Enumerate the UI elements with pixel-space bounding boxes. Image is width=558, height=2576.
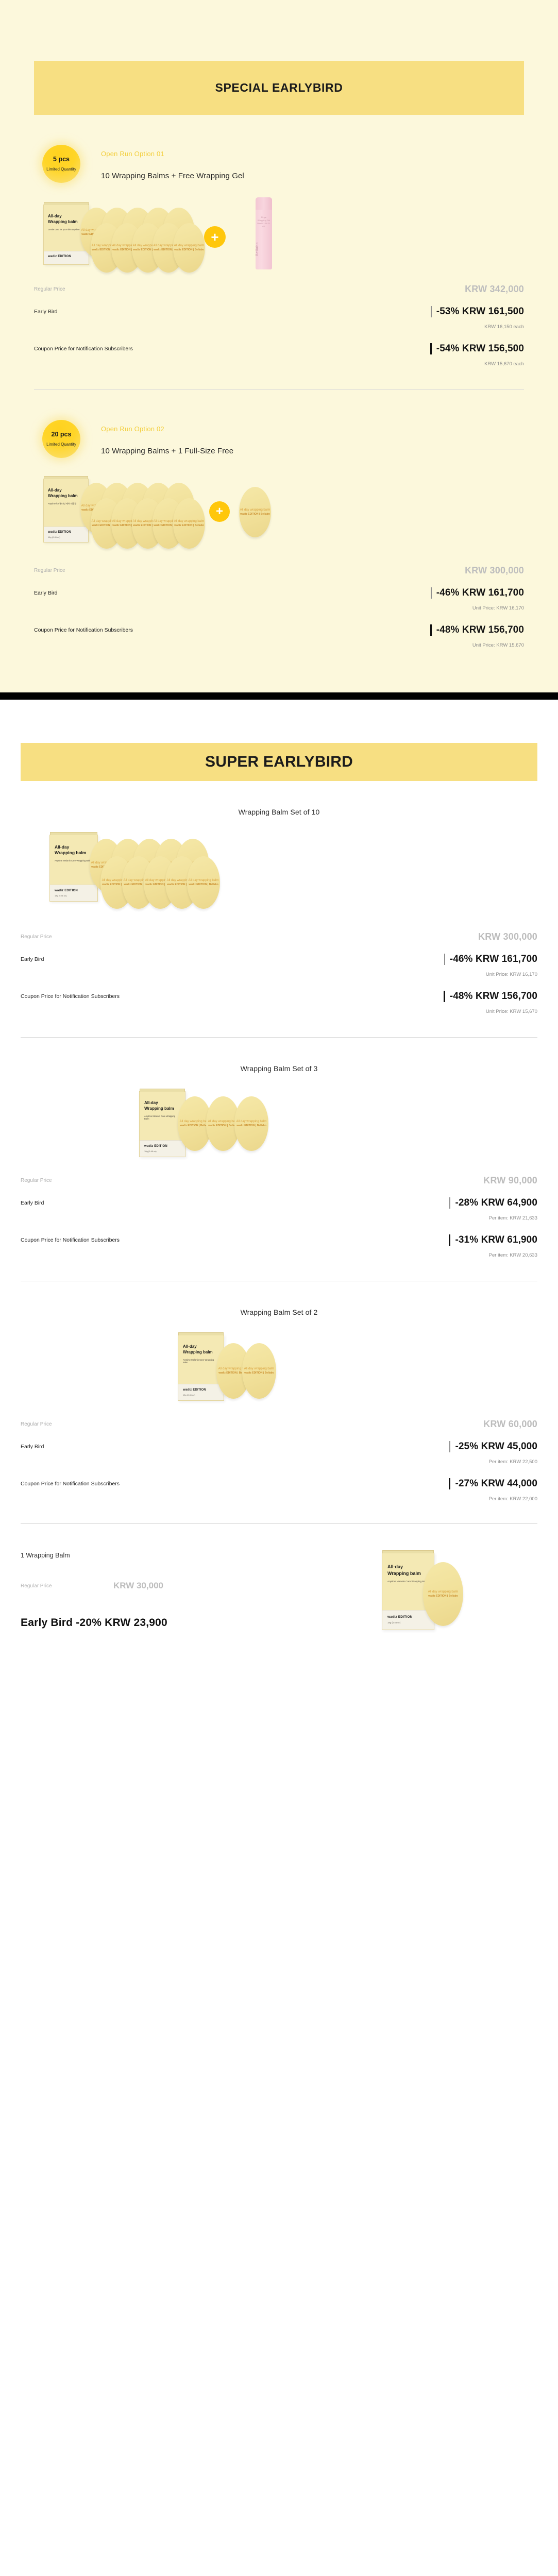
- earlybird-unit-price: Unit Price: KRW 16,170: [34, 605, 524, 611]
- price-row-earlybird: Early Bird -25% KRW 45,000: [21, 1441, 537, 1452]
- set-block-3: Wrapping Balm Set of 3 All-day Wrapping …: [0, 1064, 558, 1258]
- price-row-coupon: Coupon Price for Notification Subscriber…: [21, 991, 537, 1002]
- box-title-line1: All-day: [55, 844, 93, 850]
- offer-kicker-02: Open Run Option 02: [101, 425, 233, 433]
- accent-bar: [444, 954, 445, 965]
- box-brand: wadiz EDITION: [55, 889, 93, 892]
- earlybird-value-wrap: -25% KRW 45,000: [449, 1441, 537, 1452]
- set-title-10: Wrapping Balm Set of 10: [0, 808, 558, 816]
- earlybird-value: -46% KRW 161,700: [436, 587, 524, 599]
- earlybird-value-wrap: -46% KRW 161,700: [431, 587, 524, 599]
- earlybird-value: -46% KRW 161,700: [450, 954, 537, 965]
- earlybird-value-wrap: -28% KRW 64,900: [449, 1197, 537, 1209]
- box-footer: wadiz EDITION: [44, 251, 89, 264]
- box-title-line1: All-day: [48, 214, 84, 219]
- box-title-line2: Wrapping balm: [183, 1350, 219, 1355]
- earlybird-unit-price: Unit Price: KRW 16,170: [21, 972, 537, 977]
- box-subtitle: Anytime Melanin Care Wrapping Balm: [387, 1580, 429, 1583]
- coupon-value: -48% KRW 156,700: [450, 991, 537, 1002]
- patch-line2: wadiz EDITION | Bellabo: [236, 1125, 266, 1127]
- balm-patch: All day wrapping balm wadiz EDITION | Be…: [242, 1343, 276, 1399]
- coupon-label: Coupon Price for Notification Subscriber…: [21, 1237, 120, 1243]
- patch-line2: wadiz EDITION | Bellabo: [174, 524, 204, 527]
- box-title-line1: All-day: [387, 1564, 429, 1570]
- box-size: 18g (0.46 oz): [387, 1621, 429, 1624]
- set-block-2: Wrapping Balm Set of 2 All-day Wrapping …: [0, 1308, 558, 1502]
- accent-bar: [431, 587, 432, 599]
- accent-bar: [449, 1197, 450, 1209]
- promo-page: SPECIAL EARLYBIRD 5 pcs Limited Quantity…: [0, 0, 558, 1711]
- super-banner-wrap: SUPER EARLYBIRD: [0, 700, 558, 781]
- box-footer: wadiz EDITION 18g (0.46 oz): [140, 1140, 185, 1157]
- product-photo-01: All-day Wrapping balm Gentle care for yo…: [34, 200, 524, 266]
- set-divider: [21, 1037, 537, 1038]
- coupon-value: -48% KRW 156,700: [436, 624, 524, 636]
- box-subtitle: Anytime for 멜라닌 케어 래핑밤: [48, 502, 84, 505]
- box-size: 18g (0.46 oz): [183, 1394, 219, 1396]
- earlybird-value-wrap: -53% KRW 161,500: [431, 306, 524, 317]
- badge-note-01: Limited Quantity: [46, 167, 76, 172]
- coupon-value-wrap: -31% KRW 61,900: [449, 1234, 537, 1246]
- price-table-set10: Regular Price KRW 300,000 Early Bird -46…: [0, 931, 558, 1014]
- regular-price-label: Regular Price: [21, 1178, 52, 1183]
- set-block-10: Wrapping Balm Set of 10 All-day Wrapping…: [0, 808, 558, 1014]
- box-lid-icon: [178, 1332, 224, 1335]
- set-title-3: Wrapping Balm Set of 3: [0, 1064, 558, 1073]
- super-banner: SUPER EARLYBIRD: [21, 743, 537, 781]
- earlybird-value: -28% KRW 64,900: [455, 1197, 537, 1209]
- balm-patch: All day wrapping balm wadiz EDITION | Be…: [173, 223, 205, 273]
- special-bottom-space: [0, 648, 558, 678]
- patch-line2: wadiz EDITION | Bellabo: [189, 884, 218, 886]
- tube-text: Pinge Wrapping Gel 50ml / 1.69 FL OZ: [256, 216, 272, 228]
- box-subtitle: Gentle care for your skin anytime: [48, 228, 84, 231]
- earlybird-value-wrap: -46% KRW 161,700: [444, 954, 537, 965]
- regular-price-value: KRW 300,000: [465, 565, 524, 576]
- coupon-value-wrap: -48% KRW 156,700: [444, 991, 537, 1002]
- box-size: 18g (0.46 oz): [55, 894, 93, 897]
- limited-quantity-badge-01: 5 pcs Limited Quantity: [42, 145, 80, 183]
- accent-bar: [430, 624, 432, 636]
- product-photo-single: All-day Wrapping balm Anytime Melanin Ca…: [382, 1548, 526, 1666]
- balm-patch-bonus: All day wrapping balm wadiz EDITION | Be…: [239, 487, 271, 537]
- coupon-unit-price: Unit Price: KRW 15,670: [21, 1009, 537, 1014]
- box-footer: wadiz EDITION 18g (0.46 oz): [50, 885, 97, 901]
- gel-line3: 50ml / 1.69 FL OZ: [256, 222, 272, 228]
- plus-icon: +: [209, 501, 230, 522]
- box-brand: wadiz EDITION: [48, 255, 84, 258]
- accent-bar: [431, 306, 432, 317]
- box-subtitle: Anytime Melanin Care Wrapping Balm: [144, 1115, 180, 1120]
- regular-price-label: Regular Price: [21, 1583, 113, 1589]
- accent-bar: [449, 1478, 450, 1489]
- regular-price-label: Regular Price: [34, 286, 65, 292]
- product-photo-set10: All-day Wrapping balm Anytime Melanin Ca…: [0, 832, 558, 914]
- box-lid-icon: [382, 1550, 434, 1553]
- accent-bar: [430, 343, 432, 354]
- price-row-earlybird: Early Bird -28% KRW 64,900: [21, 1197, 537, 1209]
- balm-patch: All day wrapping balm wadiz EDITION | Be…: [423, 1562, 463, 1626]
- patch-line1: All day wrapping balm: [240, 509, 270, 512]
- price-row-coupon: Coupon Price for Notification Subscriber…: [21, 1234, 537, 1246]
- box-title-line2: Wrapping balm: [55, 850, 93, 856]
- patch-line1: All day wrapping balm: [180, 1120, 210, 1123]
- patch-line2: wadiz EDITION | Bellabo: [174, 249, 204, 251]
- set-title-2: Wrapping Balm Set of 2: [0, 1308, 558, 1316]
- offer-kicker-01: Open Run Option 01: [101, 150, 244, 158]
- patch-line1: All day wrapping balm: [174, 244, 205, 247]
- patch-line1: All day wrapping balm: [208, 1120, 239, 1123]
- regular-price-value: KRW 30,000: [113, 1581, 163, 1591]
- box-lid-icon: [140, 1089, 185, 1092]
- regular-price-label: Regular Price: [21, 934, 52, 940]
- regular-price-label: Regular Price: [34, 568, 65, 573]
- box-footer: wadiz EDITION 18g (0.46 oz): [382, 1610, 434, 1630]
- badge-note-02: Limited Quantity: [46, 443, 76, 447]
- price-table-01: Regular Price KRW 342,000 Early Bird -53…: [0, 284, 558, 367]
- price-table-set2: Regular Price KRW 60,000 Early Bird -25%…: [0, 1419, 558, 1502]
- patch-line2: wadiz EDITION | Bellabo: [180, 1125, 210, 1127]
- coupon-value: -27% KRW 44,000: [455, 1478, 537, 1489]
- price-row-coupon: Coupon Price for Notification Subscriber…: [21, 1478, 537, 1489]
- price-table-02: Regular Price KRW 300,000 Early Bird -46…: [0, 565, 558, 648]
- coupon-unit-price: Per item: KRW 20,633: [21, 1252, 537, 1258]
- patch-line2: wadiz EDITION | Bellabo: [244, 1372, 274, 1375]
- box-lid-icon: [50, 832, 97, 835]
- price-row-coupon: Coupon Price for Notification Subscriber…: [34, 343, 524, 354]
- plus-glyph: +: [216, 505, 223, 518]
- offer-header-01: 5 pcs Limited Quantity Open Run Option 0…: [34, 115, 524, 183]
- earlybird-value: -25% KRW 45,000: [455, 1441, 537, 1452]
- patch-line1: All day wrapping balm: [189, 879, 219, 882]
- box-footer: wadiz EDITION 18g (0.45 oz): [44, 527, 88, 542]
- regular-price-value: KRW 90,000: [483, 1175, 537, 1186]
- box-lid-icon: [44, 202, 89, 205]
- coupon-value-wrap: -27% KRW 44,000: [449, 1478, 537, 1489]
- badge-count-02: 20 pcs: [52, 431, 72, 438]
- earlybird-unit-price: Per item: KRW 22,500: [21, 1459, 537, 1465]
- patch-line2: wadiz EDITION | Bellabo: [208, 1125, 238, 1127]
- section-divider-bar: [0, 692, 558, 700]
- coupon-label: Coupon Price for Notification Subscriber…: [34, 627, 133, 633]
- earlybird-label: Early Bird: [21, 956, 44, 962]
- patch-line1: All day wrapping balm: [236, 1120, 267, 1123]
- patch-line1: All day wrapping balm: [244, 1367, 275, 1370]
- offer-block-01: 5 pcs Limited Quantity Open Run Option 0…: [0, 115, 558, 266]
- plus-glyph: +: [211, 230, 218, 244]
- offer-block-02: 20 pcs Limited Quantity Open Run Option …: [0, 390, 558, 548]
- coupon-unit-price: Unit Price: KRW 15,670: [34, 642, 524, 648]
- coupon-value: -54% KRW 156,500: [436, 343, 524, 354]
- box-title-line2: Wrapping balm: [387, 1570, 429, 1577]
- single-balm-block: 1 Wrapping Balm Regular Price KRW 30,000…: [0, 1552, 558, 1706]
- regular-price-label: Regular Price: [21, 1421, 52, 1427]
- earlybird-label: Early Bird: [21, 1200, 44, 1206]
- accent-bar: [449, 1441, 450, 1452]
- price-row-regular: Regular Price KRW 300,000: [21, 931, 537, 942]
- box-title-line2: Wrapping balm: [48, 219, 84, 225]
- price-row-regular: Regular Price KRW 342,000: [34, 284, 524, 295]
- price-row-earlybird: Early Bird -53% KRW 161,500: [34, 306, 524, 317]
- box-footer: wadiz EDITION 18g (0.46 oz): [178, 1384, 224, 1400]
- price-row-regular: Regular Price KRW 90,000: [21, 1175, 537, 1186]
- coupon-label: Coupon Price for Notification Subscriber…: [21, 993, 120, 999]
- set-divider: [21, 1523, 537, 1524]
- price-row-coupon: Coupon Price for Notification Subscriber…: [34, 624, 524, 636]
- balm-patch: All day wrapping balm wadiz EDITION | Be…: [173, 498, 205, 549]
- offer-name-02: 10 Wrapping Balms + 1 Full-Size Free: [101, 447, 233, 455]
- box-brand: wadiz EDITION: [144, 1145, 180, 1148]
- box-size: 18g (0.45 oz): [48, 536, 84, 538]
- earlybird-label: Early Bird: [34, 590, 58, 596]
- regular-price-value: KRW 300,000: [478, 931, 537, 942]
- box-brand: wadiz EDITION: [183, 1388, 219, 1392]
- box-title-line1: All-day: [144, 1100, 180, 1106]
- regular-price-value: KRW 342,000: [465, 284, 524, 295]
- offer-text-02: Open Run Option 02 10 Wrapping Balms + 1…: [101, 420, 233, 455]
- product-photo-set3: All-day Wrapping balm Anytime Melanin Ca…: [0, 1088, 558, 1158]
- box-subtitle: Anytime Melanin Care Wrapping Balm: [183, 1359, 219, 1364]
- box-brand: wadiz EDITION: [48, 531, 84, 534]
- coupon-value-wrap: -54% KRW 156,500: [430, 343, 524, 354]
- wrapping-gel-tube: Pinge Wrapping Gel 50ml / 1.69 FL OZ Bel…: [256, 197, 272, 269]
- patch-line2: wadiz EDITION | Bellabo: [240, 513, 270, 516]
- price-table-set3: Regular Price KRW 90,000 Early Bird -28%…: [0, 1175, 558, 1258]
- box-subtitle: Anytime Melanin Care Wrapping Balm: [55, 859, 93, 862]
- box-title-line2: Wrapping balm: [48, 494, 84, 499]
- price-row-earlybird: Early Bird -46% KRW 161,700: [21, 954, 537, 965]
- box-size: 18g (0.46 oz): [144, 1150, 180, 1153]
- coupon-unit-price: Per item: KRW 22,000: [21, 1496, 537, 1502]
- gel-brand: Bellabo: [256, 238, 272, 261]
- special-banner: SPECIAL EARLYBIRD: [34, 61, 524, 115]
- coupon-value: -31% KRW 61,900: [455, 1234, 537, 1246]
- earlybird-value: -53% KRW 161,500: [436, 306, 524, 317]
- earlybird-label: Early Bird: [21, 1444, 44, 1450]
- patch-line1: All day wrapping balm: [428, 1590, 459, 1594]
- plus-icon: +: [204, 226, 226, 248]
- coupon-unit-price: KRW 15,670 each: [34, 361, 524, 367]
- box-title-line1: All-day: [183, 1344, 219, 1350]
- product-photo-02: All-day Wrapping balm Anytime for 멜라닌 케어…: [34, 476, 524, 548]
- accent-bar: [444, 991, 445, 1002]
- price-row-regular: Regular Price KRW 300,000: [34, 565, 524, 576]
- box-lid-icon: [44, 476, 88, 479]
- earlybird-unit-price: KRW 16,150 each: [34, 324, 524, 330]
- patch-line1: All day wrapping balm: [174, 520, 205, 523]
- earlybird-label: Early Bird: [34, 309, 58, 315]
- coupon-value-wrap: -48% KRW 156,700: [430, 624, 524, 636]
- section-special-earlybird: SPECIAL EARLYBIRD 5 pcs Limited Quantity…: [0, 0, 558, 692]
- earlybird-unit-price: Per item: KRW 21,633: [21, 1215, 537, 1221]
- accent-bar: [449, 1234, 450, 1246]
- section-super-earlybird: SUPER EARLYBIRD Wrapping Balm Set of 10 …: [0, 700, 558, 1711]
- special-banner-wrap: SPECIAL EARLYBIRD: [0, 0, 558, 115]
- badge-count-01: 5 pcs: [53, 156, 70, 163]
- offer-text-01: Open Run Option 01 10 Wrapping Balms + F…: [101, 145, 244, 180]
- box-title-line1: All-day: [48, 488, 84, 494]
- balm-patch: All day wrapping balm wadiz EDITION | Be…: [234, 1096, 268, 1151]
- super-banner-title: SUPER EARLYBIRD: [205, 753, 353, 771]
- offer-header-02: 20 pcs Limited Quantity Open Run Option …: [34, 390, 524, 458]
- special-banner-title: SPECIAL EARLYBIRD: [215, 81, 343, 95]
- price-row-regular: Regular Price KRW 60,000: [21, 1419, 537, 1430]
- box-brand: wadiz EDITION: [387, 1615, 429, 1619]
- set-divider: [21, 1281, 537, 1281]
- price-row-earlybird: Early Bird -46% KRW 161,700: [34, 587, 524, 599]
- limited-quantity-badge-02: 20 pcs Limited Quantity: [42, 420, 80, 458]
- balm-patch: All day wrapping balm wadiz EDITION | Be…: [187, 856, 220, 909]
- regular-price-value: KRW 60,000: [483, 1419, 537, 1430]
- box-title-line2: Wrapping balm: [144, 1106, 180, 1112]
- coupon-label: Coupon Price for Notification Subscriber…: [21, 1481, 120, 1487]
- patch-line2: wadiz EDITION | Bellabo: [428, 1595, 458, 1598]
- coupon-label: Coupon Price for Notification Subscriber…: [34, 346, 133, 352]
- offer-name-01: 10 Wrapping Balms + Free Wrapping Gel: [101, 172, 244, 180]
- product-photo-set2: All-day Wrapping balm Anytime Melanin Ca…: [0, 1332, 558, 1401]
- tube-cap-icon: [256, 197, 272, 210]
